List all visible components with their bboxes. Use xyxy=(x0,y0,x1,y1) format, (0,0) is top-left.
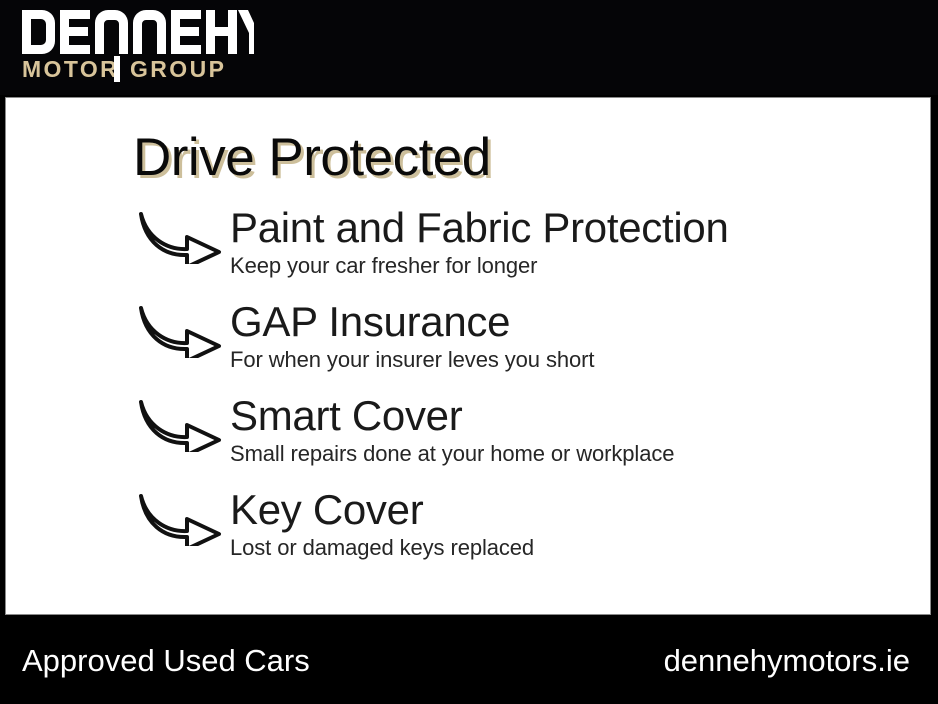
promo-banner: MOTOR GROUP Drive Protected Paint and Fa… xyxy=(0,0,938,704)
list-item-title: Smart Cover xyxy=(230,392,920,439)
list-item-text: GAP Insurance For when your insurer leve… xyxy=(230,298,920,373)
list-item: Key Cover Lost or damaged keys replaced xyxy=(6,486,930,580)
list-item: Smart Cover Small repairs done at your h… xyxy=(6,392,930,486)
content-panel: Drive Protected Paint and Fabric Protect… xyxy=(5,97,931,615)
page-title: Drive Protected xyxy=(133,131,491,184)
list-item-subtitle: Keep your car fresher for longer xyxy=(230,252,920,279)
list-item-subtitle: For when your insurer leves you short xyxy=(230,346,920,373)
logo-separator-bar xyxy=(114,56,120,82)
logo-tagline-group: GROUP xyxy=(130,56,226,82)
logo-tagline-motor: MOTOR xyxy=(22,56,119,82)
list-item-subtitle: Lost or damaged keys replaced xyxy=(230,534,920,561)
list-item-title: Paint and Fabric Protection xyxy=(230,204,920,251)
footer-website[interactable]: dennehymotors.ie xyxy=(664,642,910,680)
list-item: Paint and Fabric Protection Keep your ca… xyxy=(6,204,930,298)
curved-arrow-right-icon xyxy=(137,302,223,358)
curved-arrow-right-icon xyxy=(137,490,223,546)
logo-brand-wordmark xyxy=(22,10,254,54)
list-item-subtitle: Small repairs done at your home or workp… xyxy=(230,440,920,467)
list-item-text: Smart Cover Small repairs done at your h… xyxy=(230,392,920,467)
footer-tagline: Approved Used Cars xyxy=(22,642,310,680)
dennehy-motor-group-logo: MOTOR GROUP xyxy=(22,10,252,88)
list-item-text: Key Cover Lost or damaged keys replaced xyxy=(230,486,920,561)
list-item: GAP Insurance For when your insurer leve… xyxy=(6,298,930,392)
logo-tagline: MOTOR GROUP xyxy=(22,56,254,82)
benefits-list: Paint and Fabric Protection Keep your ca… xyxy=(6,204,930,580)
banner-header: MOTOR GROUP xyxy=(0,0,938,95)
banner-footer: Approved Used Cars dennehymotors.ie xyxy=(0,620,938,704)
list-item-title: Key Cover xyxy=(230,486,920,533)
list-item-title: GAP Insurance xyxy=(230,298,920,345)
curved-arrow-right-icon xyxy=(137,396,223,452)
list-item-text: Paint and Fabric Protection Keep your ca… xyxy=(230,204,920,279)
curved-arrow-right-icon xyxy=(137,208,223,264)
